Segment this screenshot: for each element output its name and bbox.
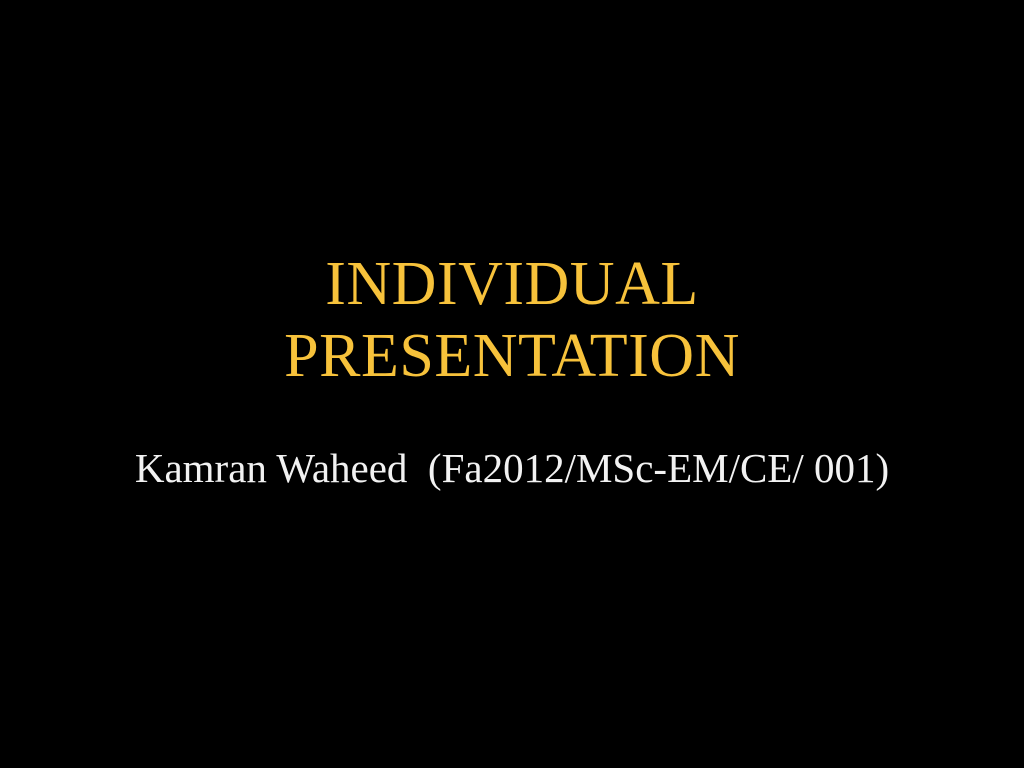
page-title: INDIVIDUAL PRESENTATION	[0, 248, 1024, 392]
slide-subtitle: Kamran Waheed (Fa2012/MSc-EM/CE/ 001)	[0, 443, 1024, 493]
title-block: INDIVIDUAL PRESENTATION	[0, 248, 1024, 392]
presentation-slide: INDIVIDUAL PRESENTATION Kamran Waheed (F…	[0, 0, 1024, 768]
subtitle-block: Kamran Waheed (Fa2012/MSc-EM/CE/ 001)	[0, 443, 1024, 493]
